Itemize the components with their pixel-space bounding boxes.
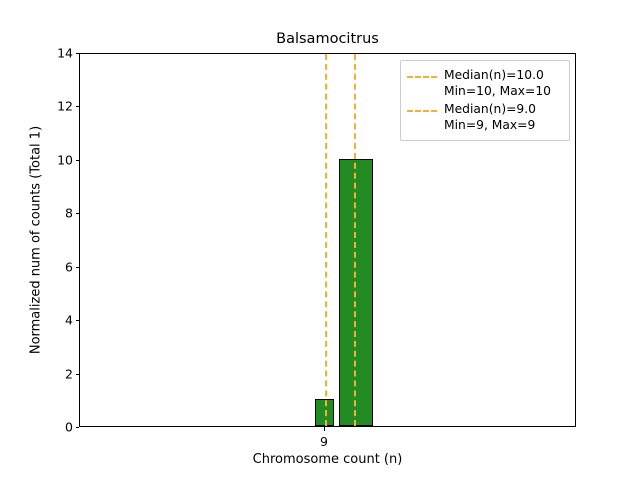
y-tick-label: 6 [65, 259, 73, 274]
median-line-1 [354, 54, 356, 426]
legend-label: Median(n)=10.0Min=10, Max=10 [444, 67, 551, 99]
y-tick-label: 10 [57, 152, 73, 167]
bar-1 [339, 159, 373, 426]
legend-dashed-line-icon [407, 103, 437, 119]
y-axis-label-text: Normalized num of counts (Total 1) [28, 126, 45, 354]
median-line-0 [325, 54, 327, 426]
y-axis-label-line2: (Total 1) [29, 126, 44, 179]
y-tick-label: 2 [65, 366, 73, 381]
legend-label: Median(n)=9.0Min=9, Max=9 [444, 101, 536, 133]
legend-label-line1: Median(n)=10.0 [444, 67, 551, 83]
x-axis-label: Chromosome count (n) [79, 452, 576, 467]
y-tick-mark [76, 427, 80, 428]
y-tick-label: 4 [65, 313, 73, 328]
legend-dashed-line-icon [407, 69, 437, 85]
legend-entry-1: Median(n)=9.0Min=9, Max=9 [407, 101, 563, 133]
chart-legend: Median(n)=10.0Min=10, Max=10Median(n)=9.… [400, 60, 570, 141]
y-tick-label: 12 [57, 99, 73, 114]
y-axis-label: Normalized num of counts (Total 1) [18, 53, 54, 427]
y-tick-label: 8 [65, 206, 73, 221]
legend-label-line2: Min=9, Max=9 [444, 117, 536, 133]
legend-label-line1: Median(n)=9.0 [444, 101, 536, 117]
legend-label-line2: Min=10, Max=10 [444, 83, 551, 99]
x-tick-label: 9 [320, 434, 328, 449]
legend-entry-0: Median(n)=10.0Min=10, Max=10 [407, 67, 563, 99]
chart-title: Balsamocitrus [79, 30, 576, 48]
x-tick-mark [324, 427, 325, 431]
matplotlib-figure: Balsamocitrus Normalized num of counts (… [0, 0, 640, 480]
y-tick-label: 14 [57, 46, 73, 61]
y-tick-label: 0 [65, 420, 73, 435]
y-axis-label-line1: Normalized num of counts [29, 183, 44, 354]
